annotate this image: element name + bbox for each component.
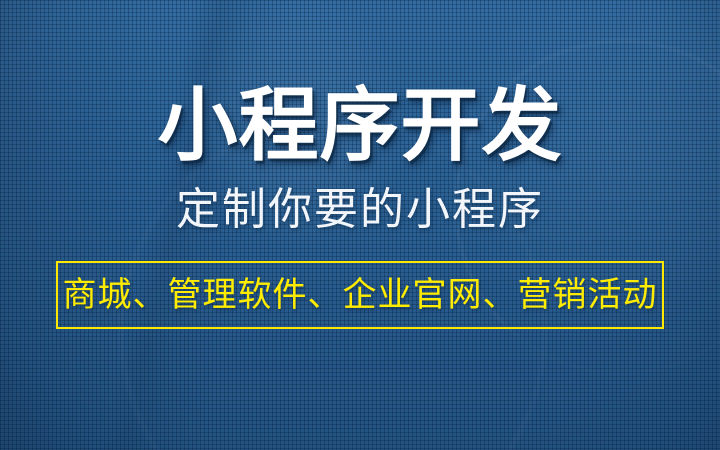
banner-subtitle: 定制你要的小程序 bbox=[0, 188, 720, 232]
tagline-text: 商城、管理软件、企业官网、营销活动 bbox=[63, 278, 658, 312]
promo-banner: 小程序开发 定制你要的小程序 商城、管理软件、企业官网、营销活动 bbox=[0, 0, 720, 450]
tagline-box: 商城、管理软件、企业官网、营销活动 bbox=[56, 261, 664, 329]
banner-title: 小程序开发 bbox=[0, 86, 720, 166]
banner-content: 小程序开发 定制你要的小程序 商城、管理软件、企业官网、营销活动 bbox=[0, 0, 720, 450]
